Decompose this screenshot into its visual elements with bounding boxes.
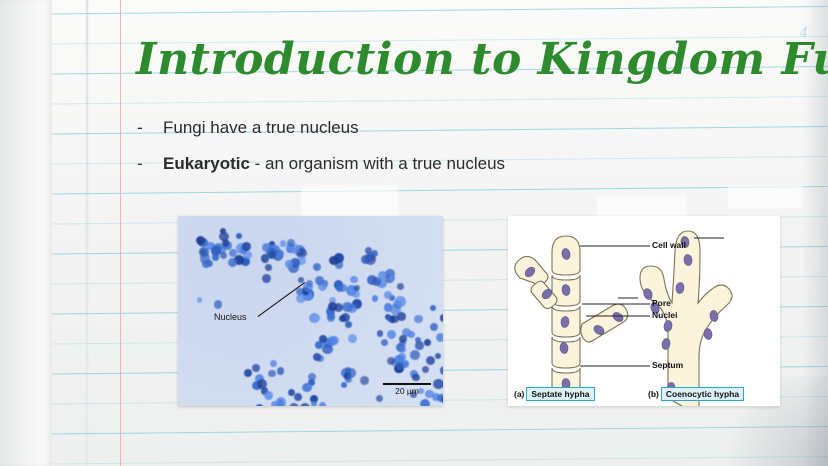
stained-cell	[420, 399, 430, 406]
stained-cell	[319, 402, 326, 406]
stained-cell	[285, 260, 292, 267]
stained-cell	[345, 367, 351, 373]
stained-cell	[377, 330, 384, 337]
page-title: Introduction to Kingdom Fungi	[136, 34, 828, 85]
stained-cell	[202, 260, 210, 268]
stained-cell	[222, 239, 229, 246]
page-curl	[0, 0, 52, 466]
hypha-types-diagram: Cell wall Pore Nuclei Septum (a)Septate …	[508, 216, 780, 406]
bullet-text: Fungi have a true nucleus	[163, 116, 359, 140]
label-cell-wall: Cell wall	[652, 240, 686, 250]
stained-cell	[339, 284, 347, 292]
fungal-cells-micrograph: Nucleus 20 µm	[178, 216, 443, 406]
stained-cell	[440, 366, 443, 375]
stained-cell	[342, 302, 353, 313]
bullet-dash: -	[137, 152, 163, 176]
bullet-dash: -	[137, 116, 163, 140]
stained-cell	[220, 228, 226, 234]
stained-cell	[422, 366, 429, 373]
stained-cell	[311, 401, 317, 406]
stained-cell	[262, 274, 271, 283]
bullet-text: Eukaryotic - an organism with a true nuc…	[163, 152, 505, 176]
stained-cell	[214, 300, 222, 308]
stained-cell	[329, 256, 338, 265]
bullet-definition: - an organism with a true nucleus	[250, 154, 505, 173]
stained-cell	[376, 395, 383, 402]
scale-bar: 20 µm	[383, 383, 431, 396]
bullet-keyword: Eukaryotic	[163, 154, 250, 173]
stained-cell	[196, 236, 205, 245]
stained-cell	[277, 367, 285, 375]
stained-cell	[313, 353, 321, 361]
stained-cell	[397, 283, 404, 290]
label-nuclei: Nuclei	[652, 310, 678, 320]
stained-cell	[360, 376, 369, 385]
stained-cell	[315, 276, 324, 285]
hypha-illustration	[508, 216, 780, 406]
stained-cell	[440, 314, 443, 322]
caption-letter-a: (a)	[514, 389, 524, 399]
stained-cell	[294, 393, 302, 401]
stained-cell	[372, 277, 381, 286]
stained-cell	[430, 305, 436, 311]
page-fold-edge	[86, 0, 88, 466]
label-septum: Septum	[652, 360, 683, 370]
stained-cell	[197, 297, 203, 303]
stained-cell	[327, 314, 335, 322]
stained-cell	[264, 391, 273, 400]
stained-cell	[381, 339, 388, 346]
caption-box-a: Septate hypha	[526, 387, 594, 401]
nucleus-label: Nucleus	[214, 312, 247, 322]
stained-cell	[302, 383, 311, 392]
stained-cell	[433, 379, 443, 390]
stained-cell	[228, 258, 237, 267]
tape-patch-left	[302, 185, 399, 219]
scale-bar-line	[383, 383, 431, 385]
tape-patch-far-right	[728, 186, 802, 208]
stained-cell	[441, 395, 443, 404]
caption-coenocytic: (b)Coenocytic hypha	[648, 387, 744, 401]
stained-cell	[268, 370, 275, 377]
stained-cell	[345, 321, 352, 328]
bullet-list: - Fungi have a true nucleus - Eukaryotic…	[137, 116, 757, 188]
scale-bar-text: 20 µm	[383, 386, 431, 396]
stained-cell	[252, 364, 260, 372]
list-item: - Fungi have a true nucleus	[137, 116, 757, 140]
slide-canvas: 4 Introduction to Kingdom Fungi - Fungi …	[0, 0, 828, 466]
stained-cell	[265, 264, 271, 270]
stained-cell	[348, 334, 357, 343]
stained-cell	[262, 243, 272, 253]
list-item: - Eukaryotic - an organism with a true n…	[137, 152, 757, 176]
stained-cell	[436, 333, 443, 342]
caption-letter-b: (b)	[648, 389, 659, 399]
caption-box-b: Coenocytic hypha	[661, 387, 744, 401]
stained-cell	[269, 251, 276, 258]
stained-cell	[319, 335, 327, 343]
stained-cell	[350, 276, 358, 284]
label-pore: Pore	[652, 298, 671, 308]
stained-cell	[242, 242, 251, 251]
stained-cell	[412, 374, 419, 381]
stained-cell	[270, 360, 277, 367]
stained-cell	[387, 357, 395, 365]
caption-septate: (a)Septate hypha	[514, 387, 595, 401]
stained-cell	[372, 295, 378, 301]
stained-cell	[424, 339, 431, 346]
margin-line	[120, 0, 121, 466]
